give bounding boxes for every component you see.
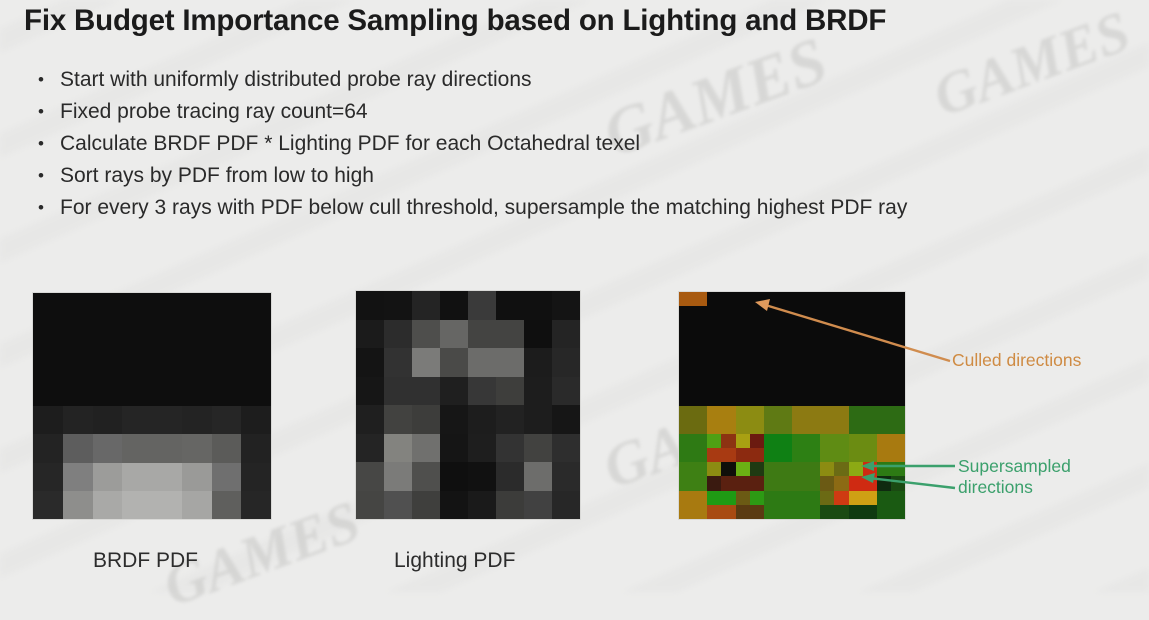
heatmap-cell	[877, 505, 891, 519]
heatmap-cell	[750, 377, 764, 391]
heatmap-cell	[736, 476, 750, 490]
heatmap-cell	[877, 306, 891, 320]
heatmap-cell	[412, 348, 440, 377]
heatmap-cell	[707, 462, 721, 476]
list-item: • Fixed probe tracing ray count=64	[22, 96, 1142, 128]
heatmap-cell	[778, 306, 792, 320]
heatmap-cell	[707, 476, 721, 490]
heatmap-cell	[834, 377, 848, 391]
heatmap-cell	[891, 434, 905, 448]
heatmap-cell	[849, 491, 863, 505]
heatmap-cell	[834, 434, 848, 448]
heatmap-cell	[212, 463, 242, 491]
heatmap-cell	[834, 349, 848, 363]
heatmap-cell	[122, 434, 152, 462]
heatmap-cell	[182, 434, 212, 462]
bullet-marker-icon: •	[22, 160, 60, 192]
heatmap-cell	[750, 434, 764, 448]
heatmap-cell	[764, 377, 778, 391]
heatmap-cell	[212, 406, 242, 434]
heatmap-cell	[63, 321, 93, 349]
heatmap-cell	[524, 491, 552, 520]
heatmap-cell	[552, 491, 580, 520]
heatmap-cell	[707, 320, 721, 334]
heatmap-cell	[778, 292, 792, 306]
heatmap-cell	[863, 476, 877, 490]
heatmap-cell	[877, 434, 891, 448]
heatmap-cell	[679, 335, 693, 349]
heatmap-cell	[806, 306, 820, 320]
heatmap-cell	[863, 448, 877, 462]
heatmap-cell	[891, 363, 905, 377]
heatmap-cell	[440, 377, 468, 406]
heatmap-cell	[412, 434, 440, 463]
heatmap-cell	[440, 491, 468, 520]
heatmap-cell	[384, 291, 412, 320]
heatmap-cell	[764, 476, 778, 490]
heatmap-cell	[806, 391, 820, 405]
heatmap-cell	[820, 505, 834, 519]
heatmap-cell	[63, 491, 93, 519]
heatmap-cell	[384, 491, 412, 520]
heatmap-cell	[93, 378, 123, 406]
bullet-marker-icon: •	[22, 96, 60, 128]
heatmap-cell	[212, 321, 242, 349]
heatmap-cell	[468, 291, 496, 320]
heatmap-cell	[679, 377, 693, 391]
heatmap-cell	[820, 349, 834, 363]
heatmap-cell	[356, 377, 384, 406]
heatmap-cell	[693, 391, 707, 405]
heatmap-cell	[721, 434, 735, 448]
heatmap-cell	[679, 476, 693, 490]
heatmap-cell	[863, 349, 877, 363]
heatmap-cell	[863, 363, 877, 377]
heatmap-cell	[552, 348, 580, 377]
heatmap-cell	[496, 348, 524, 377]
heatmap-cell	[750, 406, 764, 420]
heatmap-cell	[834, 476, 848, 490]
heatmap-cell	[764, 420, 778, 434]
heatmap-cell	[384, 320, 412, 349]
heatmap-cell	[750, 349, 764, 363]
supersampled-label-line1: Supersampled	[958, 456, 1071, 477]
heatmap-cell	[834, 491, 848, 505]
heatmap-cell	[63, 293, 93, 321]
heatmap-cell	[778, 406, 792, 420]
heatmap-cell	[707, 505, 721, 519]
heatmap-cell	[820, 335, 834, 349]
heatmap-cell	[891, 335, 905, 349]
heatmap-cell	[863, 320, 877, 334]
heatmap-cell	[182, 321, 212, 349]
list-item-label: Fixed probe tracing ray count=64	[60, 96, 1142, 128]
heatmap-cell	[792, 349, 806, 363]
slide-title: Fix Budget Importance Sampling based on …	[24, 4, 1134, 38]
heatmap-cell	[182, 406, 212, 434]
heatmap-cell	[496, 434, 524, 463]
heatmap-cell	[182, 293, 212, 321]
heatmap-cell	[356, 462, 384, 491]
heatmap-cell	[152, 378, 182, 406]
heatmap-cell	[736, 505, 750, 519]
heatmap-cell	[806, 448, 820, 462]
heatmap-cell	[736, 391, 750, 405]
heatmap-cell	[834, 363, 848, 377]
heatmap-cell	[384, 348, 412, 377]
heatmap-cell	[182, 491, 212, 519]
heatmap-cell	[679, 434, 693, 448]
heatmap-cell	[412, 377, 440, 406]
heatmap-cell	[679, 420, 693, 434]
heatmap-cell	[806, 406, 820, 420]
supersampled-directions-label: Supersampled directions	[958, 456, 1071, 498]
heatmap-cell	[241, 293, 271, 321]
heatmap-cell	[63, 378, 93, 406]
heatmap-cell	[820, 391, 834, 405]
heatmap-cell	[679, 406, 693, 420]
heatmap-cell	[778, 349, 792, 363]
heatmap-cell	[496, 405, 524, 434]
heatmap-cell	[806, 462, 820, 476]
heatmap-cell	[778, 491, 792, 505]
heatmap-cell	[182, 463, 212, 491]
heatmap-cell	[152, 463, 182, 491]
heatmap-cell	[891, 476, 905, 490]
brdf-pdf-caption: BRDF PDF	[93, 549, 198, 573]
heatmap-cell	[849, 320, 863, 334]
heatmap-cell	[440, 462, 468, 491]
lighting-pdf-caption: Lighting PDF	[394, 549, 515, 573]
heatmap-cell	[707, 349, 721, 363]
heatmap-cell	[212, 434, 242, 462]
heatmap-cell	[693, 292, 707, 306]
heatmap-cell	[863, 377, 877, 391]
heatmap-cell	[820, 462, 834, 476]
heatmap-cell	[750, 391, 764, 405]
heatmap-cell	[792, 306, 806, 320]
heatmap-cell	[356, 291, 384, 320]
heatmap-cell	[693, 448, 707, 462]
heatmap-cell	[863, 434, 877, 448]
heatmap-cell	[693, 363, 707, 377]
heatmap-cell	[468, 377, 496, 406]
heatmap-cell	[93, 321, 123, 349]
heatmap-cell	[122, 293, 152, 321]
heatmap-cell	[778, 462, 792, 476]
heatmap-cell	[764, 406, 778, 420]
heatmap-cell	[679, 349, 693, 363]
heatmap-cell	[241, 350, 271, 378]
heatmap-cell	[212, 350, 242, 378]
heatmap-cell	[721, 476, 735, 490]
heatmap-cell	[877, 406, 891, 420]
heatmap-cell	[806, 363, 820, 377]
heatmap-cell	[721, 377, 735, 391]
heatmap-cell	[834, 448, 848, 462]
heatmap-cell	[496, 377, 524, 406]
heatmap-cell	[552, 377, 580, 406]
heatmap-cell	[778, 448, 792, 462]
heatmap-cell	[778, 320, 792, 334]
heatmap-cell	[849, 420, 863, 434]
heatmap-cell	[707, 448, 721, 462]
heatmap-cell	[891, 292, 905, 306]
heatmap-cell	[33, 406, 63, 434]
heatmap-cell	[764, 335, 778, 349]
heatmap-cell	[778, 377, 792, 391]
list-item-label: Sort rays by PDF from low to high	[60, 160, 1142, 192]
heatmap-cell	[750, 448, 764, 462]
heatmap-cell	[792, 434, 806, 448]
heatmap-cell	[93, 434, 123, 462]
heatmap-cell	[440, 405, 468, 434]
heatmap-cell	[863, 491, 877, 505]
list-item: • Calculate BRDF PDF * Lighting PDF for …	[22, 128, 1142, 160]
heatmap-cell	[750, 491, 764, 505]
heatmap-cell	[122, 350, 152, 378]
supersampled-label-line2: directions	[958, 477, 1071, 498]
heatmap-cell	[778, 420, 792, 434]
heatmap-cell	[834, 335, 848, 349]
heatmap-cell	[764, 462, 778, 476]
heatmap-cell	[778, 505, 792, 519]
heatmap-cell	[736, 377, 750, 391]
heatmap-cell	[891, 391, 905, 405]
heatmap-cell	[820, 476, 834, 490]
heatmap-cell	[750, 505, 764, 519]
heatmap-cell	[806, 505, 820, 519]
heatmap-cell	[736, 448, 750, 462]
heatmap-cell	[412, 405, 440, 434]
list-item-label: Start with uniformly distributed probe r…	[60, 64, 1142, 96]
heatmap-cell	[750, 335, 764, 349]
heatmap-cell	[891, 320, 905, 334]
heatmap-cell	[806, 349, 820, 363]
heatmap-cell	[693, 377, 707, 391]
heatmap-cell	[93, 406, 123, 434]
heatmap-cell	[679, 363, 693, 377]
heatmap-cell	[693, 491, 707, 505]
heatmap-cell	[679, 462, 693, 476]
heatmap-cell	[764, 363, 778, 377]
heatmap-cell	[468, 462, 496, 491]
heatmap-cell	[891, 462, 905, 476]
heatmap-cell	[806, 292, 820, 306]
heatmap-cell	[736, 491, 750, 505]
heatmap-cell	[891, 491, 905, 505]
heatmap-cell	[524, 405, 552, 434]
heatmap-cell	[721, 292, 735, 306]
heatmap-cell	[806, 420, 820, 434]
heatmap-cell	[750, 320, 764, 334]
heatmap-cell	[212, 293, 242, 321]
heatmap-cell	[524, 434, 552, 463]
heatmap-cell	[849, 292, 863, 306]
heatmap-cell	[764, 320, 778, 334]
heatmap-cell	[721, 462, 735, 476]
heatmap-cell	[93, 491, 123, 519]
heatmap-cell	[440, 348, 468, 377]
heatmap-cell	[468, 348, 496, 377]
heatmap-cell	[33, 378, 63, 406]
heatmap-cell	[792, 420, 806, 434]
heatmap-cell	[122, 378, 152, 406]
heatmap-cell	[524, 348, 552, 377]
heatmap-cell	[679, 448, 693, 462]
heatmap-cell	[33, 350, 63, 378]
heatmap-cell	[834, 306, 848, 320]
heatmap-cell	[820, 306, 834, 320]
heatmap-cell	[152, 406, 182, 434]
heatmap-cell	[792, 476, 806, 490]
heatmap-cell	[849, 505, 863, 519]
heatmap-cell	[877, 448, 891, 462]
heatmap-cell	[241, 463, 271, 491]
heatmap-cell	[212, 378, 242, 406]
heatmap-cell	[552, 320, 580, 349]
heatmap-cell	[891, 349, 905, 363]
heatmap-cell	[820, 434, 834, 448]
heatmap-cell	[849, 363, 863, 377]
heatmap-cell	[679, 391, 693, 405]
heatmap-cell	[707, 391, 721, 405]
heatmap-cell	[806, 476, 820, 490]
culled-directions-label: Culled directions	[952, 350, 1081, 371]
heatmap-cell	[834, 505, 848, 519]
heatmap-cell	[33, 321, 63, 349]
heatmap-cell	[122, 406, 152, 434]
heatmap-cell	[736, 335, 750, 349]
heatmap-cell	[736, 349, 750, 363]
heatmap-cell	[721, 391, 735, 405]
heatmap-cell	[764, 306, 778, 320]
heatmap-cell	[356, 491, 384, 520]
heatmap-cell	[792, 391, 806, 405]
heatmap-cell	[384, 434, 412, 463]
heatmap-cell	[891, 406, 905, 420]
heatmap-cell	[721, 306, 735, 320]
heatmap-cell	[792, 406, 806, 420]
heatmap-cell	[778, 363, 792, 377]
heatmap-cell	[849, 306, 863, 320]
heatmap-cell	[806, 377, 820, 391]
combined-pdf-heatmap	[679, 292, 905, 519]
heatmap-cell	[891, 448, 905, 462]
heatmap-cell	[496, 462, 524, 491]
heatmap-cell	[849, 406, 863, 420]
heatmap-cell	[122, 321, 152, 349]
heatmap-cell	[877, 420, 891, 434]
heatmap-cell	[750, 420, 764, 434]
heatmap-cell	[863, 292, 877, 306]
heatmap-cell	[241, 406, 271, 434]
heatmap-cell	[241, 491, 271, 519]
heatmap-cell	[707, 420, 721, 434]
heatmap-cell	[849, 462, 863, 476]
heatmap-cell	[820, 406, 834, 420]
heatmap-cell	[152, 491, 182, 519]
bullet-marker-icon: •	[22, 128, 60, 160]
heatmap-cell	[356, 348, 384, 377]
heatmap-cell	[877, 363, 891, 377]
heatmap-cell	[792, 363, 806, 377]
heatmap-cell	[834, 320, 848, 334]
heatmap-cell	[679, 292, 693, 306]
heatmap-cell	[93, 293, 123, 321]
heatmap-cell	[792, 505, 806, 519]
heatmap-cell	[182, 350, 212, 378]
heatmap-cell	[820, 491, 834, 505]
list-item: • Start with uniformly distributed probe…	[22, 64, 1142, 96]
heatmap-cell	[750, 462, 764, 476]
heatmap-cell	[736, 320, 750, 334]
heatmap-cell	[356, 434, 384, 463]
heatmap-cell	[468, 491, 496, 520]
heatmap-cell	[750, 292, 764, 306]
heatmap-cell	[241, 378, 271, 406]
heatmap-cell	[721, 349, 735, 363]
heatmap-cell	[849, 448, 863, 462]
heatmap-cell	[524, 291, 552, 320]
heatmap-cell	[792, 320, 806, 334]
heatmap-cell	[496, 320, 524, 349]
bullet-list: • Start with uniformly distributed probe…	[22, 64, 1142, 224]
heatmap-cell	[764, 349, 778, 363]
heatmap-cell	[412, 491, 440, 520]
heatmap-cell	[552, 434, 580, 463]
heatmap-cell	[384, 377, 412, 406]
heatmap-cell	[707, 335, 721, 349]
heatmap-cell	[792, 448, 806, 462]
heatmap-cell	[412, 291, 440, 320]
heatmap-cell	[63, 350, 93, 378]
heatmap-cell	[863, 505, 877, 519]
heatmap-cell	[820, 292, 834, 306]
heatmap-cell	[721, 505, 735, 519]
list-item-label: For every 3 rays with PDF below cull thr…	[60, 192, 1142, 224]
heatmap-cell	[693, 320, 707, 334]
heatmap-cell	[707, 292, 721, 306]
heatmap-cell	[736, 292, 750, 306]
heatmap-cell	[679, 320, 693, 334]
heatmap-cell	[468, 434, 496, 463]
heatmap-cell	[241, 434, 271, 462]
list-item-label: Calculate BRDF PDF * Lighting PDF for ea…	[60, 128, 1142, 160]
heatmap-cell	[63, 463, 93, 491]
heatmap-cell	[524, 320, 552, 349]
heatmap-cell	[891, 420, 905, 434]
heatmap-cell	[552, 291, 580, 320]
heatmap-cell	[849, 335, 863, 349]
heatmap-cell	[707, 377, 721, 391]
heatmap-cell	[707, 434, 721, 448]
heatmap-cell	[778, 391, 792, 405]
heatmap-cell	[877, 292, 891, 306]
heatmap-cell	[693, 462, 707, 476]
slide-root: GAMES GAMES GAMES GAMES Fix Budget Impor…	[0, 0, 1149, 592]
heatmap-cell	[806, 335, 820, 349]
heatmap-cell	[552, 462, 580, 491]
heatmap-cell	[778, 335, 792, 349]
heatmap-cell	[764, 448, 778, 462]
heatmap-cell	[721, 335, 735, 349]
heatmap-cell	[721, 363, 735, 377]
heatmap-cell	[820, 420, 834, 434]
heatmap-cell	[384, 462, 412, 491]
heatmap-cell	[721, 406, 735, 420]
heatmap-cell	[707, 406, 721, 420]
